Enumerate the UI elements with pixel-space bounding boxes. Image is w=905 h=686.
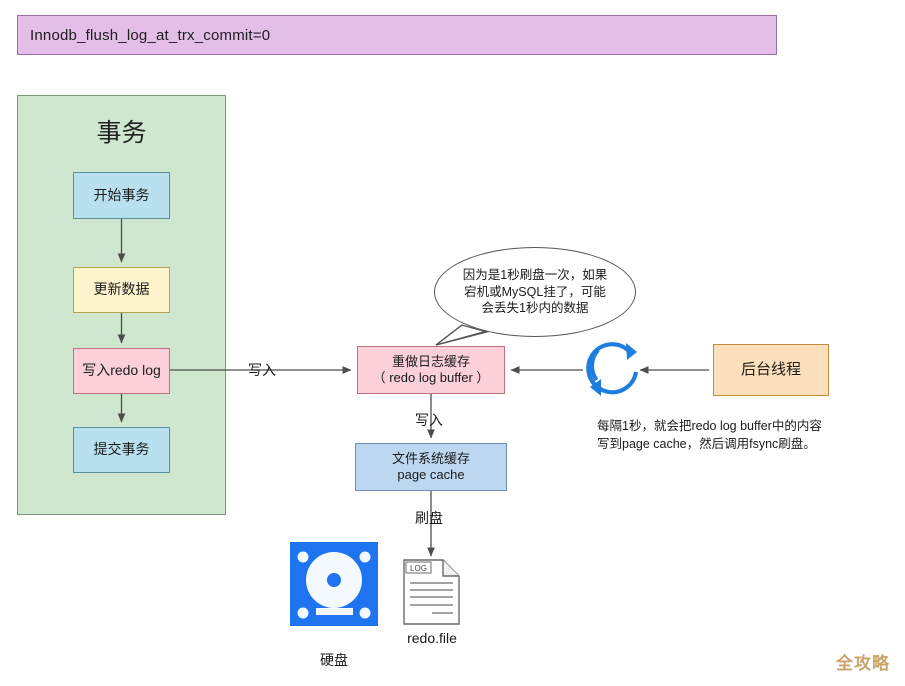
speech-bubble: 因为是1秒刷盘一次，如果 宕机或MySQL挂了，可能 会丢失1秒内的数据: [434, 247, 636, 337]
arrow-label-write-vertical: 写入: [415, 410, 443, 430]
node-page-cache-line2: page cache: [397, 467, 464, 483]
node-start-transaction: 开始事务: [73, 172, 170, 219]
node-background-thread: 后台线程: [713, 344, 829, 396]
node-redo-log-buffer-line1: 重做日志缓存: [392, 354, 470, 370]
refresh-cycle-icon-arrowheads: [590, 343, 637, 396]
speech-bubble-line3: 会丢失1秒内的数据: [463, 300, 607, 317]
log-file-icon: LOG: [404, 560, 459, 624]
node-update-data-label: 更新数据: [94, 281, 150, 298]
node-redo-log-buffer: 重做日志缓存 （ redo log buffer ）: [357, 346, 505, 394]
node-redo-log-buffer-line2: （ redo log buffer ）: [373, 370, 490, 386]
log-file-icon-label: redo.file: [384, 630, 480, 646]
arrow-label-flush-to-disk: 刷盘: [415, 508, 443, 528]
transaction-panel-title: 事务: [17, 113, 226, 149]
diagram-canvas: Innodb_flush_log_at_trx_commit=0 事务 开始事务…: [0, 0, 905, 686]
refresh-cycle-icon: [588, 344, 636, 392]
hard-disk-icon-label: 硬盘: [286, 650, 382, 670]
background-thread-note-line2: 写到page cache，然后调用fsync刷盘。: [597, 435, 897, 453]
background-thread-note-line1: 每隔1秒，就会把redo log buffer中的内容: [597, 417, 897, 435]
speech-bubble-text: 因为是1秒刷盘一次，如果 宕机或MySQL挂了，可能 会丢失1秒内的数据: [449, 267, 621, 318]
speech-bubble-line2: 宕机或MySQL挂了，可能: [463, 284, 607, 301]
header-banner: Innodb_flush_log_at_trx_commit=0: [17, 15, 777, 55]
hard-disk-icon: [290, 542, 378, 626]
speech-bubble-line1: 因为是1秒刷盘一次，如果: [463, 267, 607, 284]
node-commit-transaction: 提交事务: [73, 427, 170, 473]
node-page-cache: 文件系统缓存 page cache: [355, 443, 507, 491]
arrow-label-write-horizontal: 写入: [248, 360, 276, 380]
background-thread-note: 每隔1秒，就会把redo log buffer中的内容 写到page cache…: [597, 417, 897, 453]
node-page-cache-line1: 文件系统缓存: [392, 451, 470, 467]
header-banner-text: Innodb_flush_log_at_trx_commit=0: [18, 27, 270, 44]
log-file-icon-tag: LOG: [410, 564, 427, 573]
node-background-thread-label: 后台线程: [741, 361, 801, 379]
watermark: 全攻略: [836, 649, 890, 674]
node-start-transaction-label: 开始事务: [94, 187, 150, 204]
node-write-redo-log-label: 写入redo log: [82, 362, 161, 379]
node-commit-transaction-label: 提交事务: [94, 441, 150, 458]
node-write-redo-log: 写入redo log: [73, 348, 170, 394]
node-update-data: 更新数据: [73, 267, 170, 313]
